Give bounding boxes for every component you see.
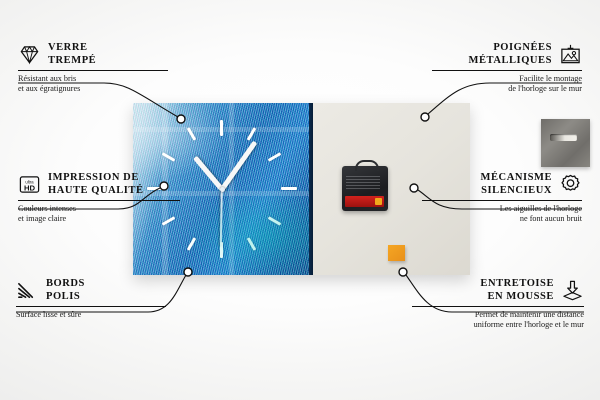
- callout-header: VERRETREMPÉ: [18, 42, 168, 67]
- callout-title: VERRETREMPÉ: [48, 42, 96, 67]
- callout-header: BORDSPOLIS: [16, 278, 166, 303]
- clock-hour-hand: [193, 156, 224, 191]
- callout-bords-polis[interactable]: BORDSPOLIS Surface lisse et sûre: [16, 278, 166, 320]
- mechanism-hanging-loop: [355, 160, 379, 171]
- hanger-keyhole-slot: [550, 134, 577, 141]
- pattern-line: [229, 103, 234, 275]
- callout-subtitle: Permet de maintenir une distanceuniforme…: [412, 310, 584, 330]
- product-photo: [133, 103, 470, 275]
- clock-tick: [162, 152, 176, 162]
- diamond-icon: [18, 43, 41, 66]
- callout-header: ultraHD IMPRESSION DEHAUTE QUALITÉ: [18, 172, 180, 197]
- callout-divider: [16, 306, 166, 307]
- battery: [345, 196, 384, 207]
- callout-subtitle: Surface lisse et sûre: [16, 310, 166, 320]
- callout-subtitle: Les aiguilles de l'horlogene font aucun …: [422, 204, 582, 224]
- callout-title: ENTRETOISEEN MOUSSE: [480, 278, 554, 303]
- callout-divider: [412, 306, 584, 307]
- callout-title: IMPRESSION DEHAUTE QUALITÉ: [48, 172, 144, 197]
- clock-tick: [247, 127, 257, 141]
- clock-minute-hand: [220, 141, 257, 191]
- ultra-hd-icon: ultraHD: [18, 173, 41, 196]
- callout-mecanisme-silencieux[interactable]: MÉCANISMESILENCIEUX Les aiguilles de l'h…: [422, 172, 582, 224]
- metal-hanger-plate: [541, 119, 590, 167]
- callout-header: ENTRETOISEEN MOUSSE: [412, 278, 584, 303]
- callout-impression-haute-qualite[interactable]: ultraHD IMPRESSION DEHAUTE QUALITÉ Coule…: [18, 172, 180, 224]
- callout-verre-trempe[interactable]: VERRETREMPÉ Résistant aux briset aux égr…: [18, 42, 168, 94]
- foam-spacer-icon: [561, 279, 584, 302]
- clock-tick: [268, 216, 282, 226]
- svg-text:HD: HD: [24, 183, 36, 192]
- clock-center-hub: [220, 187, 225, 192]
- mechanism-label: [346, 175, 380, 189]
- callout-title: MÉCANISMESILENCIEUX: [481, 172, 552, 197]
- clock-mechanism: [342, 166, 388, 211]
- callout-divider: [18, 70, 168, 71]
- clock-tick: [281, 187, 297, 190]
- callout-divider: [18, 200, 180, 201]
- gear-icon: [559, 173, 582, 196]
- callout-poignees-metalliques[interactable]: POIGNÉESMÉTALLIQUES Facilite le montaged…: [432, 42, 582, 94]
- picture-hanger-icon: [559, 43, 582, 66]
- polished-edge-icon: [16, 279, 39, 302]
- callout-title: POIGNÉESMÉTALLIQUES: [469, 42, 552, 67]
- infographic-canvas: VERRETREMPÉ Résistant aux briset aux égr…: [0, 0, 600, 400]
- foam-spacer: [388, 245, 405, 261]
- callout-header: MÉCANISMESILENCIEUX: [422, 172, 582, 197]
- clock-second-hand: [220, 190, 223, 246]
- clock-tick: [220, 120, 223, 136]
- callout-subtitle: Résistant aux briset aux égratignures: [18, 74, 168, 94]
- callout-subtitle: Facilite le montagede l'horloge sur le m…: [432, 74, 582, 94]
- callout-header: POIGNÉESMÉTALLIQUES: [432, 42, 582, 67]
- clock-tick: [187, 127, 197, 141]
- clock-tick: [268, 152, 282, 162]
- callout-subtitle: Couleurs intenseset image claire: [18, 204, 180, 224]
- clock-tick: [247, 237, 257, 251]
- clock-tick: [220, 242, 223, 258]
- pattern-line: [133, 127, 311, 132]
- callout-entretoise-en-mousse[interactable]: ENTRETOISEEN MOUSSE Permet de maintenir …: [412, 278, 584, 330]
- clock-tick: [187, 237, 197, 251]
- callout-title: BORDSPOLIS: [46, 278, 85, 303]
- callout-divider: [432, 70, 582, 71]
- callout-divider: [422, 200, 582, 201]
